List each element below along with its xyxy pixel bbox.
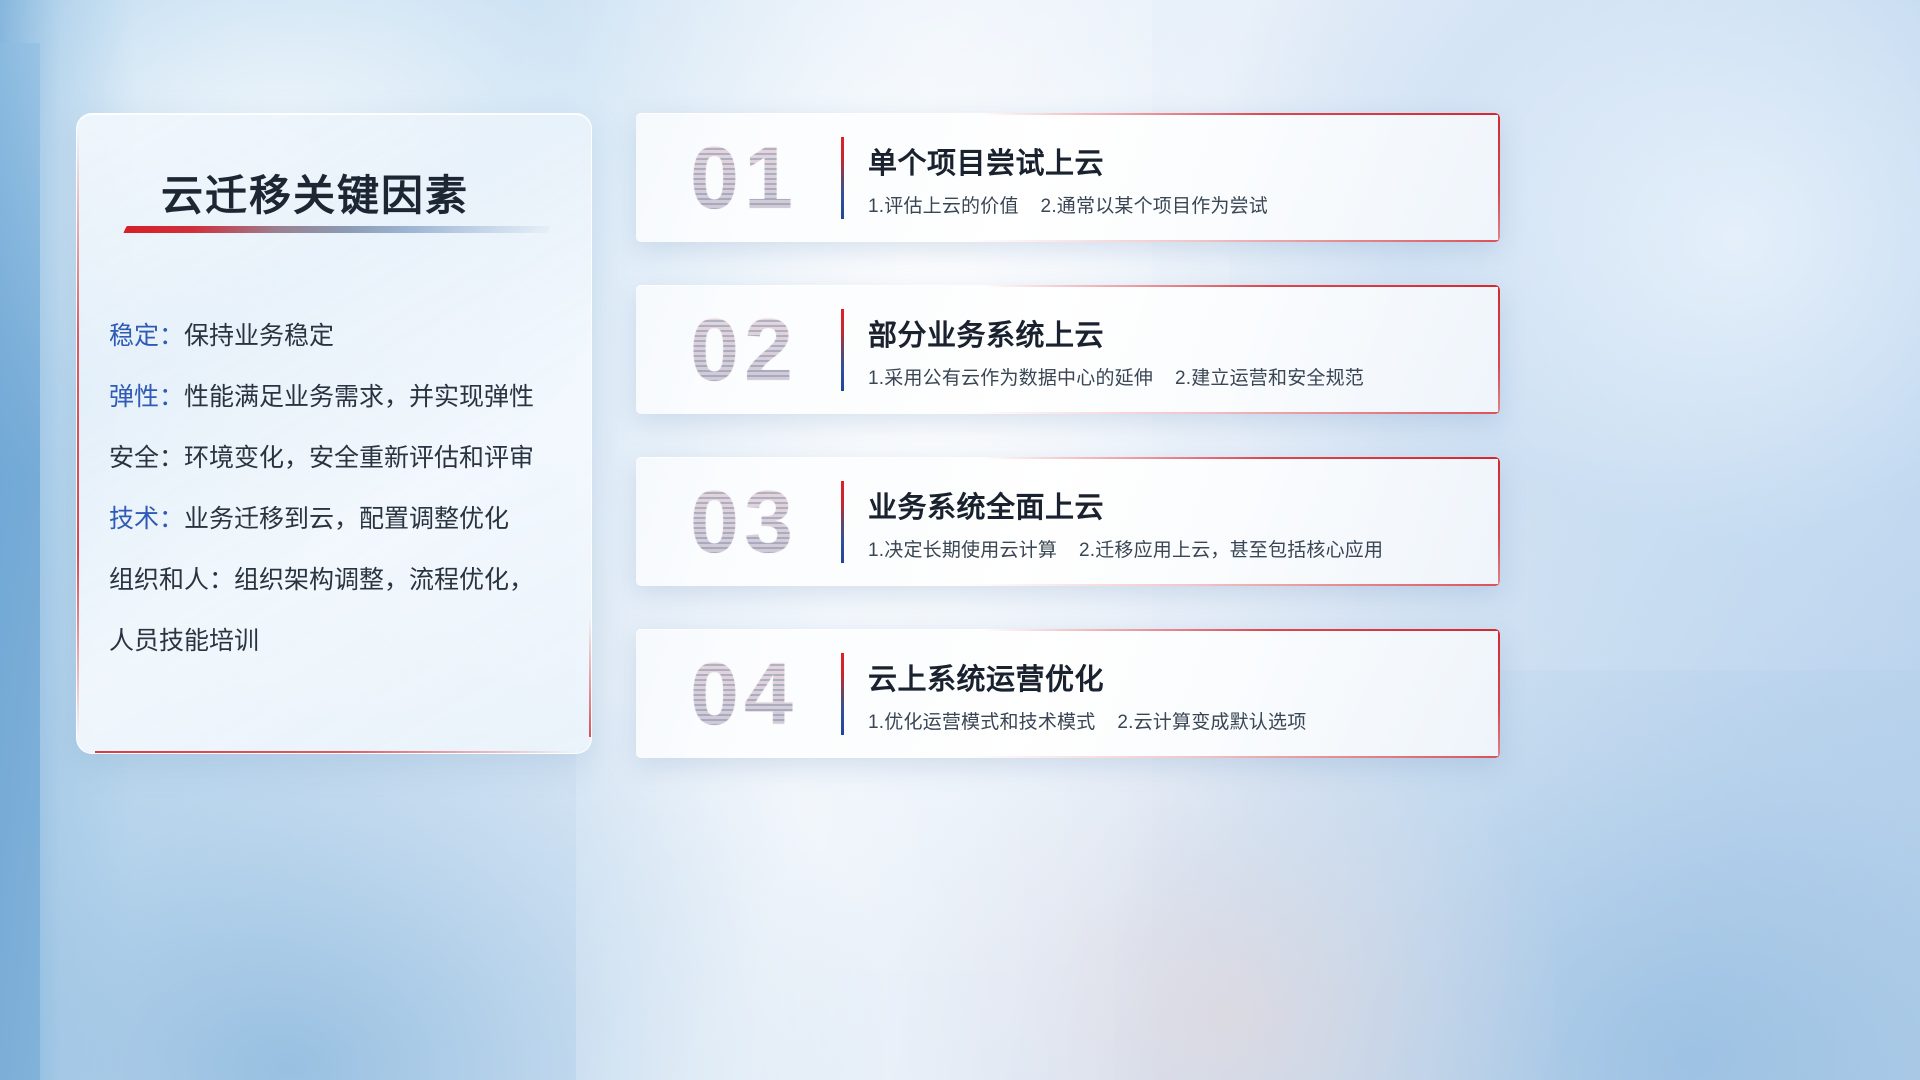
list-item-label: 组织和人：	[109, 566, 234, 594]
slide-stage: 云迁移关键因素 稳定：保持业务稳定 弹性：性能满足业务需求，并实现弹性 安全：环…	[0, 0, 1920, 1080]
list-item-label: 稳定：	[109, 322, 184, 350]
list-item-text: 保持业务稳定	[184, 322, 334, 350]
list-item-continuation: 人员技能培训	[109, 611, 565, 672]
stage-card-04[interactable]: 04 04 云上系统运营优化 1.优化运营模式和技术模式 2.云计算变成默认选项	[636, 629, 1500, 758]
card-right-accent	[1498, 285, 1500, 414]
card-right-accent	[1498, 113, 1500, 242]
list-item-text: 性能满足业务需求，并实现弹性	[184, 383, 534, 411]
list-item: 组织和人：组织架构调整，流程优化，	[109, 550, 565, 611]
list-item-text: 环境变化，安全重新评估和评审	[184, 444, 534, 472]
card-divider	[841, 309, 844, 391]
card-bottom-accent	[964, 412, 1500, 414]
card-divider	[841, 481, 844, 563]
panel-right-accent	[589, 617, 591, 737]
card-top-accent	[982, 113, 1500, 115]
card-divider	[841, 653, 844, 735]
key-factors-panel: 云迁移关键因素 稳定：保持业务稳定 弹性：性能满足业务需求，并实现弹性 安全：环…	[76, 113, 592, 754]
stage-card-03[interactable]: 03 03 业务系统全面上云 1.决定长期使用云计算 2.迁移应用上云，甚至包括…	[636, 457, 1500, 586]
card-title: 单个项目尝试上云	[868, 140, 1104, 182]
list-item-text: 组织架构调整，流程优化，	[234, 566, 534, 594]
card-description: 1.决定长期使用云计算 2.迁移应用上云，甚至包括核心应用	[868, 535, 1383, 562]
card-bottom-accent	[964, 584, 1500, 586]
stage-card-01[interactable]: 01 01 单个项目尝试上云 1.评估上云的价值 2.通常以某个项目作为尝试	[636, 113, 1500, 242]
card-title: 部分业务系统上云	[868, 312, 1104, 354]
list-item-text: 人员技能培训	[109, 627, 259, 655]
card-bottom-accent	[964, 240, 1500, 242]
card-bottom-accent	[964, 756, 1500, 758]
list-item-label: 安全：	[109, 444, 184, 472]
list-item: 弹性：性能满足业务需求，并实现弹性	[109, 367, 565, 428]
list-item-label: 技术：	[109, 505, 184, 533]
panel-title: 云迁移关键因素	[161, 162, 469, 223]
card-number: 02	[658, 295, 830, 405]
card-title: 云上系统运营优化	[868, 656, 1104, 698]
list-item-text: 业务迁移到云，配置调整优化	[184, 505, 509, 533]
card-number: 04	[658, 639, 830, 749]
panel-bottom-accent	[95, 751, 575, 753]
card-description: 1.评估上云的价值 2.通常以某个项目作为尝试	[868, 191, 1268, 218]
list-item: 技术：业务迁移到云，配置调整优化	[109, 489, 565, 550]
card-title: 业务系统全面上云	[868, 484, 1104, 526]
card-number: 03	[658, 467, 830, 577]
card-description: 1.采用公有云作为数据中心的延伸 2.建立运营和安全规范	[868, 363, 1364, 390]
card-divider	[841, 137, 844, 219]
card-description: 1.优化运营模式和技术模式 2.云计算变成默认选项	[868, 707, 1306, 734]
list-item-label: 弹性：	[109, 383, 184, 411]
card-top-accent	[982, 285, 1500, 287]
key-factors-list: 稳定：保持业务稳定 弹性：性能满足业务需求，并实现弹性 安全：环境变化，安全重新…	[109, 306, 565, 672]
card-top-accent	[982, 629, 1500, 631]
stage-card-02[interactable]: 02 02 部分业务系统上云 1.采用公有云作为数据中心的延伸 2.建立运营和安…	[636, 285, 1500, 414]
panel-title-underline	[123, 226, 550, 233]
panel-left-accent	[77, 130, 79, 737]
card-right-accent	[1498, 457, 1500, 586]
list-item: 稳定：保持业务稳定	[109, 306, 565, 367]
card-top-accent	[982, 457, 1500, 459]
card-right-accent	[1498, 629, 1500, 758]
card-number: 01	[658, 123, 830, 233]
list-item: 安全：环境变化，安全重新评估和评审	[109, 428, 565, 489]
